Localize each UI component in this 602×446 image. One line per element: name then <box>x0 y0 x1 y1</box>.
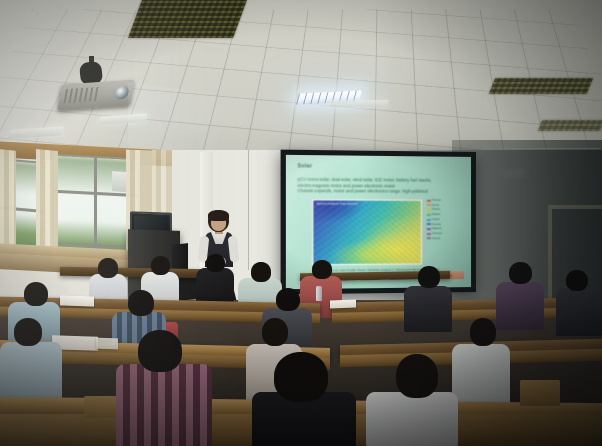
attendee-body <box>366 392 458 446</box>
legend-swatch-icon <box>427 233 431 235</box>
legend-swatch-icon <box>427 200 431 202</box>
legend-label: Magnetic <box>432 227 442 230</box>
legend-label: Thermal <box>432 199 441 202</box>
attendee-head <box>509 262 532 284</box>
legend-swatch-icon <box>427 214 431 216</box>
presenter-hair <box>208 210 229 221</box>
legend-swatch-icon <box>427 237 431 239</box>
legend-item: Kinetic <box>427 204 461 208</box>
wall-seam-b <box>470 148 600 149</box>
attendee-head <box>418 266 440 288</box>
attendee-body <box>116 364 212 446</box>
attendee-head <box>138 330 182 372</box>
attendee-head <box>128 290 154 316</box>
attendee-dark-front-center <box>252 352 356 446</box>
attendee-head <box>470 318 496 346</box>
slide-title: Solar <box>298 163 313 169</box>
attendee-head <box>274 352 328 402</box>
attendee-head <box>312 260 332 279</box>
attendee-white-tee-front-right <box>366 354 458 446</box>
legend-item: Nuclear <box>427 237 461 241</box>
attendee-seated-far-right-edge <box>556 270 602 336</box>
legend-swatch-icon <box>427 228 431 230</box>
attendee-head <box>251 262 271 282</box>
ceiling-grille-right-icon <box>489 78 593 94</box>
attendee-body <box>556 288 602 336</box>
slide-body-line-3: Chassis expands, motor and power electro… <box>298 188 466 195</box>
legend-item: Radiant <box>427 213 461 216</box>
legend-label: Plasma <box>432 208 440 211</box>
paper-sheets-b[interactable] <box>330 300 356 309</box>
attendee-head <box>276 288 300 311</box>
attendee-head <box>206 254 225 272</box>
legend-label: Optical <box>432 218 440 221</box>
slide-chart-figure: Spectral irradiance Solar spectrum <box>311 198 423 266</box>
attendee-head <box>396 354 438 398</box>
attendee-body <box>0 342 62 404</box>
fluorescent-fixture-dim-right <box>329 100 389 107</box>
projector-lens-icon <box>114 86 130 100</box>
wall-seam-a <box>248 150 249 270</box>
chair-back-right <box>520 380 560 406</box>
classroom-photo: Solar pCV mono-solar, dual-solar, wind-s… <box>0 0 602 446</box>
legend-label: Nuclear <box>432 237 440 240</box>
water-bottle[interactable] <box>316 286 322 301</box>
attendee-dark-far-right <box>404 266 452 332</box>
attendee-head <box>151 256 170 275</box>
attendee-head <box>566 270 588 291</box>
legend-item: Magnetic <box>427 227 461 230</box>
legend-swatch-icon <box>427 223 431 225</box>
attendee-blue-front-far-left <box>0 318 62 404</box>
legend-item: Optical <box>427 218 461 221</box>
ceiling-mounted-projector <box>57 80 135 111</box>
attendee-body <box>404 286 452 332</box>
paper-sheets-a[interactable] <box>60 295 94 306</box>
heatmap-texture <box>313 200 420 264</box>
attendee-white-tee-right <box>452 318 510 404</box>
ceiling-grille-right-lower-icon <box>538 120 602 131</box>
attendee-head <box>24 282 48 306</box>
attendee-body <box>452 344 510 404</box>
legend-item: Thermal <box>427 199 461 203</box>
ceiling-grille-icon <box>128 0 247 38</box>
attendee-head <box>14 318 42 346</box>
projector-vent-icon <box>63 87 100 103</box>
slide-body-text: pCV mono-solar, dual-solar, wind-solar, … <box>298 177 466 195</box>
legend-item: Plasma <box>427 208 461 211</box>
legend-item: Acoustic <box>427 223 461 226</box>
attendee-plaid-front-left <box>116 330 212 446</box>
legend-label: Chemical <box>432 232 442 235</box>
attendee-head <box>98 258 118 278</box>
notebook-page-right[interactable] <box>96 338 118 350</box>
attendee-head <box>262 318 288 346</box>
legend-item: Chemical <box>427 232 461 235</box>
legend-swatch-icon <box>427 204 431 206</box>
legend-label: Radiant <box>432 213 440 216</box>
heatmap-axis-label: Spectral irradiance Solar spectrum <box>317 202 359 205</box>
legend-label: Kinetic <box>432 204 439 207</box>
legend-swatch-icon <box>427 218 431 220</box>
wall-mark <box>500 168 526 178</box>
chart-legend: Thermal Kinetic Plasma Radiant Optical <box>427 199 461 266</box>
legend-label: Acoustic <box>432 223 441 226</box>
legend-swatch-icon <box>427 209 431 211</box>
heatmap-plot: Spectral irradiance Solar spectrum <box>313 200 420 264</box>
